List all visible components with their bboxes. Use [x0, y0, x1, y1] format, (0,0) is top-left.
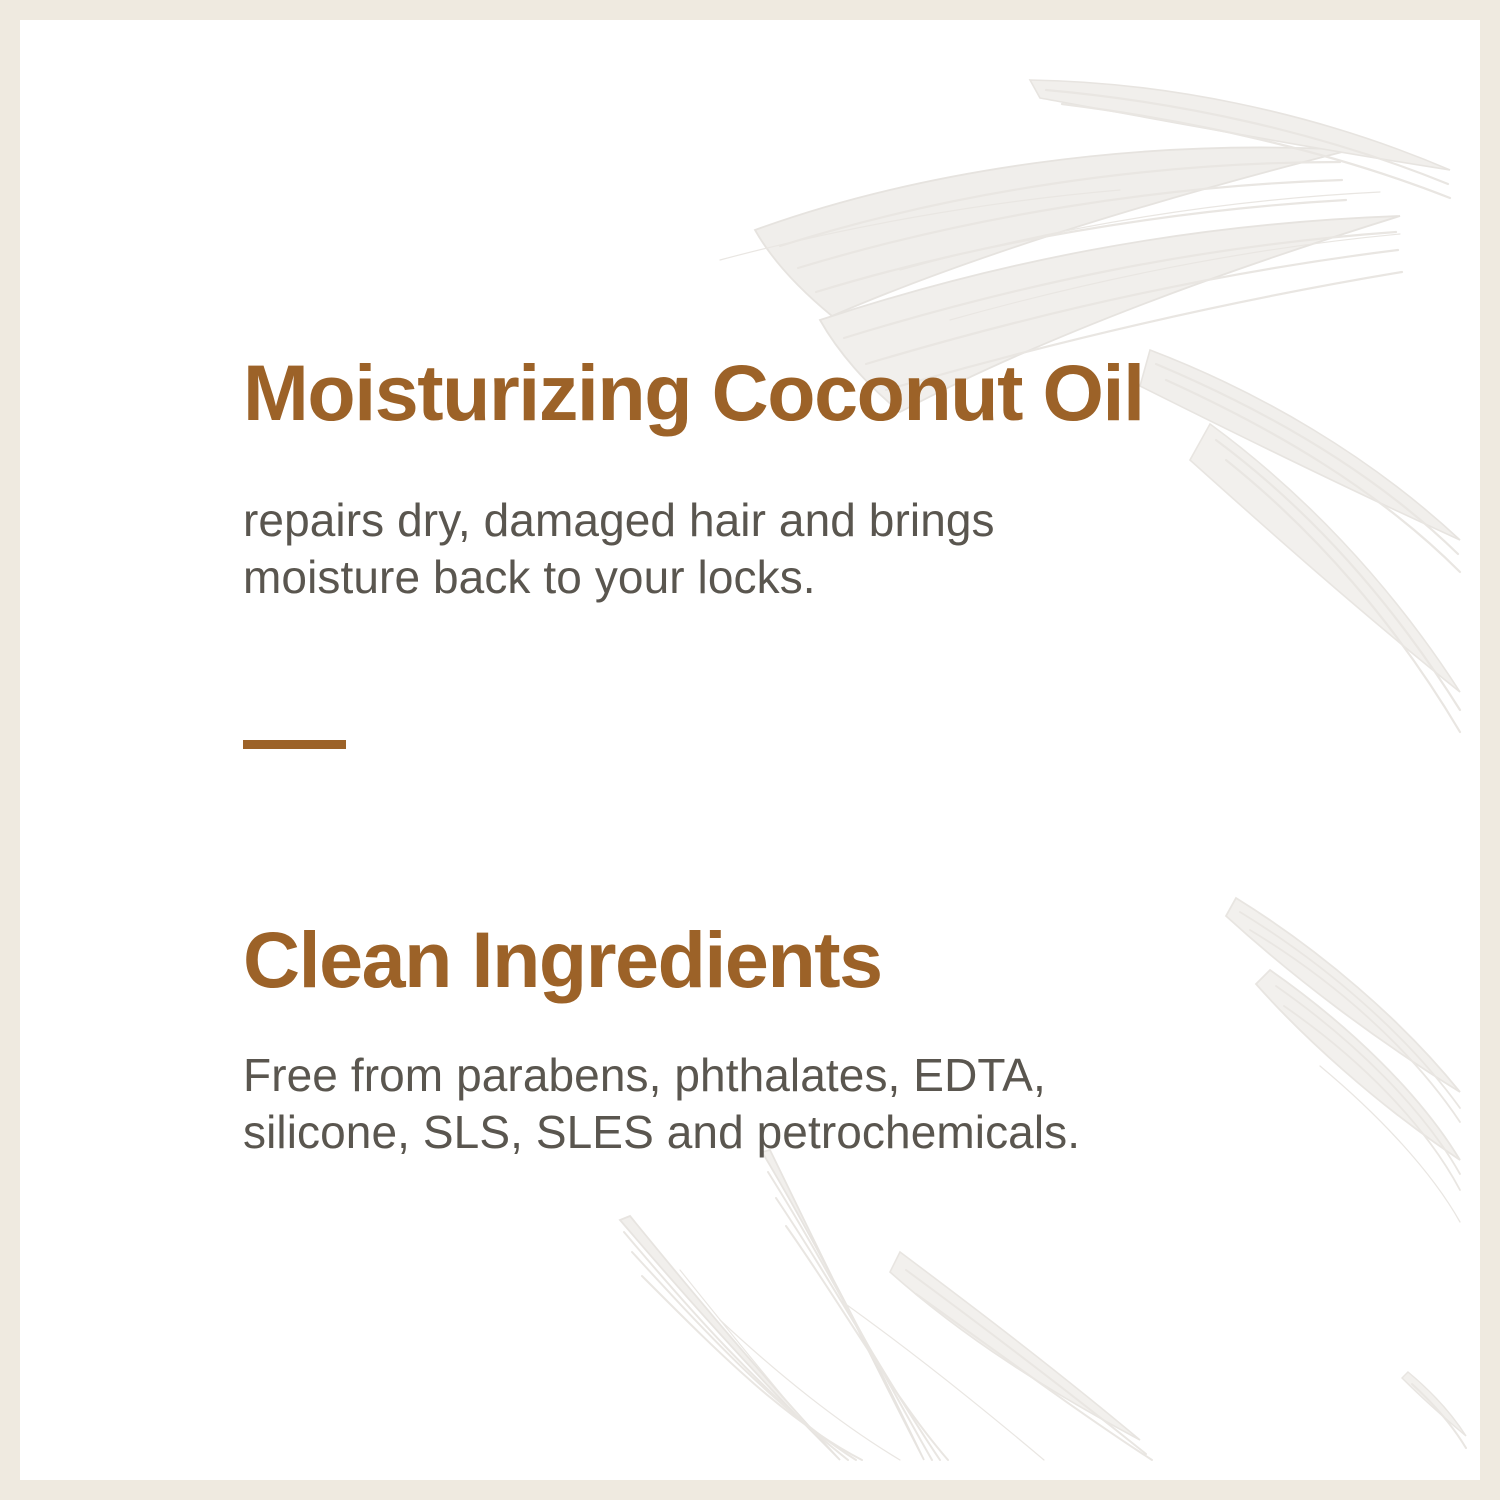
feature-body-line: silicone, SLS, SLES and petrochemicals. [243, 1104, 1080, 1161]
feature-content: Moisturizing Coconut Oil repairs dry, da… [243, 20, 1393, 1480]
feature-body-line: moisture back to your locks. [243, 549, 995, 606]
feature-body-moisturizing-coconut-oil: repairs dry, damaged hair and brings moi… [243, 492, 995, 606]
feature-heading-clean-ingredients: Clean Ingredients [243, 920, 882, 999]
feature-heading-moisturizing-coconut-oil: Moisturizing Coconut Oil [243, 353, 1144, 432]
section-divider [243, 740, 346, 749]
product-feature-panel: Moisturizing Coconut Oil repairs dry, da… [0, 0, 1500, 1500]
feature-body-line: repairs dry, damaged hair and brings [243, 492, 995, 549]
feature-body-clean-ingredients: Free from parabens, phthalates, EDTA, si… [243, 1047, 1080, 1161]
panel-canvas: Moisturizing Coconut Oil repairs dry, da… [20, 20, 1480, 1480]
feature-body-line: Free from parabens, phthalates, EDTA, [243, 1047, 1080, 1104]
